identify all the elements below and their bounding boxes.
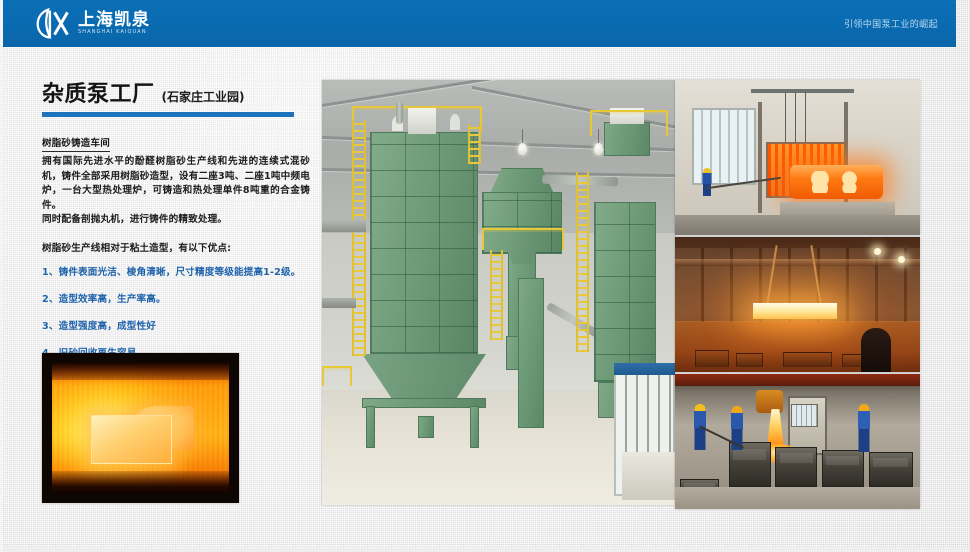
- list-item: 2、造型效率高，生产率高。: [42, 293, 310, 307]
- furnace-roof: [52, 363, 229, 380]
- hard-hat-icon: [731, 406, 742, 413]
- photo-pouring: [675, 374, 920, 509]
- silo-leg: [470, 406, 479, 448]
- photo-furnace-interior: [42, 353, 239, 503]
- shop-floor: [675, 215, 920, 235]
- list-item: 1、铸件表面光洁、棱角清晰，尺寸精度等级能提高1-2级。: [42, 266, 310, 280]
- mold-flask: [822, 450, 864, 488]
- kaiquan-logo-mark-icon: [36, 7, 73, 40]
- overhead-crane-girder: [675, 374, 920, 386]
- ceiling-lamp-icon: [594, 143, 603, 155]
- worker-torso: [731, 413, 743, 429]
- foundry-floor: [675, 487, 920, 509]
- crane-beam: [751, 89, 854, 93]
- title-underline-rule: [42, 112, 294, 117]
- brand-text: 上海凯泉 SHANGHAI KAIQUAN: [78, 10, 150, 36]
- hot-billet: [753, 303, 836, 319]
- worker-silhouette: [861, 328, 891, 372]
- paragraph-1: 拥有国际先进水平的酚醛树脂砂生产线和先进的连续式混砂机，铸件全部采用树脂砂造型，…: [42, 155, 310, 213]
- slide-canvas: 上海凯泉 SHANGHAI KAIQUAN 引领中国泵工业的崛起 杂质泵工厂 (…: [0, 0, 970, 552]
- mold-stack: [736, 353, 763, 367]
- worker-figure: [856, 404, 872, 454]
- title-row: 杂质泵工厂 (石家庄工业园): [42, 82, 310, 108]
- worker-figure: [700, 168, 714, 198]
- platform-guardrail: [590, 110, 668, 136]
- center-guardrail: [482, 228, 564, 250]
- furnace-door-frame: [758, 102, 762, 214]
- worker-legs: [859, 429, 870, 452]
- mezzanine-slab: [322, 220, 366, 232]
- ceiling-lamp-icon: [518, 143, 527, 155]
- sand-silo-housing: [370, 132, 478, 354]
- overhead-beam: [675, 259, 920, 266]
- furnace-glow: [52, 363, 229, 493]
- page-title: 杂质泵工厂: [42, 82, 155, 108]
- mezzanine-slab: [322, 298, 356, 308]
- content-column: 杂质泵工厂 (石家庄工业园) 树脂砂铸造车间 拥有国际先进水平的酚醛树脂砂生产线…: [42, 82, 310, 374]
- list-item: 3、造型强度高，成型性好: [42, 320, 310, 334]
- hot-casting-load: [790, 165, 883, 199]
- photo-crane-lift: [675, 237, 920, 372]
- hard-hat-icon: [859, 404, 870, 411]
- body-block: 树脂砂铸造车间 拥有国际先进水平的酚醛树脂砂生产线和先进的连续式混砂机，铸件全部…: [42, 131, 310, 361]
- paragraph-2: 同时配备剖抛丸机，进行铸件的精致处理。: [42, 213, 310, 228]
- access-ladder: [490, 250, 503, 340]
- silo-base-beam: [362, 398, 486, 408]
- brand-name-en: SHANGHAI KAIQUAN: [78, 29, 150, 36]
- brand-logo[interactable]: 上海凯泉 SHANGHAI KAIQUAN: [36, 5, 150, 41]
- doorway-window: [791, 404, 818, 427]
- mold-stack: [783, 352, 832, 367]
- right-tower-body: [594, 202, 656, 382]
- dust-collector-stack: [408, 108, 436, 134]
- header-slogan: 引领中国泵工业的崛起: [844, 0, 938, 47]
- discharge-valve: [418, 416, 434, 438]
- mold-flask: [869, 452, 913, 487]
- page-subtitle: (石家庄工业园): [162, 88, 245, 105]
- mold-stack: [695, 350, 729, 366]
- page-header: 上海凯泉 SHANGHAI KAIQUAN 引领中国泵工业的崛起: [3, 0, 956, 47]
- advantages-list: 1、铸件表面光洁、棱角清晰，尺寸精度等级能提高1-2级。 2、造型效率高，生产率…: [42, 266, 310, 361]
- platform-guardrail: [322, 366, 352, 386]
- brand-name-cn: 上海凯泉: [78, 11, 150, 29]
- dust-collector-cap: [450, 114, 460, 130]
- ceiling-lamp-icon: [874, 248, 881, 255]
- advantages-intro: 树脂砂生产线相对于粘土造型，有以下优点:: [42, 242, 310, 257]
- office-base-wall: [622, 452, 675, 500]
- worker-torso: [702, 173, 711, 184]
- access-ladder: [352, 120, 366, 356]
- photo-workshop-main: [322, 80, 675, 505]
- section-heading: 树脂砂铸造车间: [42, 137, 110, 152]
- vertical-duct: [518, 278, 544, 428]
- access-ladder: [468, 124, 481, 164]
- furnace-hearth: [52, 471, 229, 493]
- silo-leg: [366, 406, 375, 448]
- photo-heat-treatment: [675, 80, 920, 235]
- furnace-casting-block: [91, 415, 172, 464]
- access-ladder: [576, 172, 589, 352]
- duct-pipe: [396, 102, 403, 124]
- worker-torso: [858, 411, 870, 429]
- hard-hat-icon: [695, 404, 706, 411]
- mold-flask: [775, 447, 817, 488]
- worker-legs: [695, 428, 706, 450]
- office-canopy: [614, 363, 675, 375]
